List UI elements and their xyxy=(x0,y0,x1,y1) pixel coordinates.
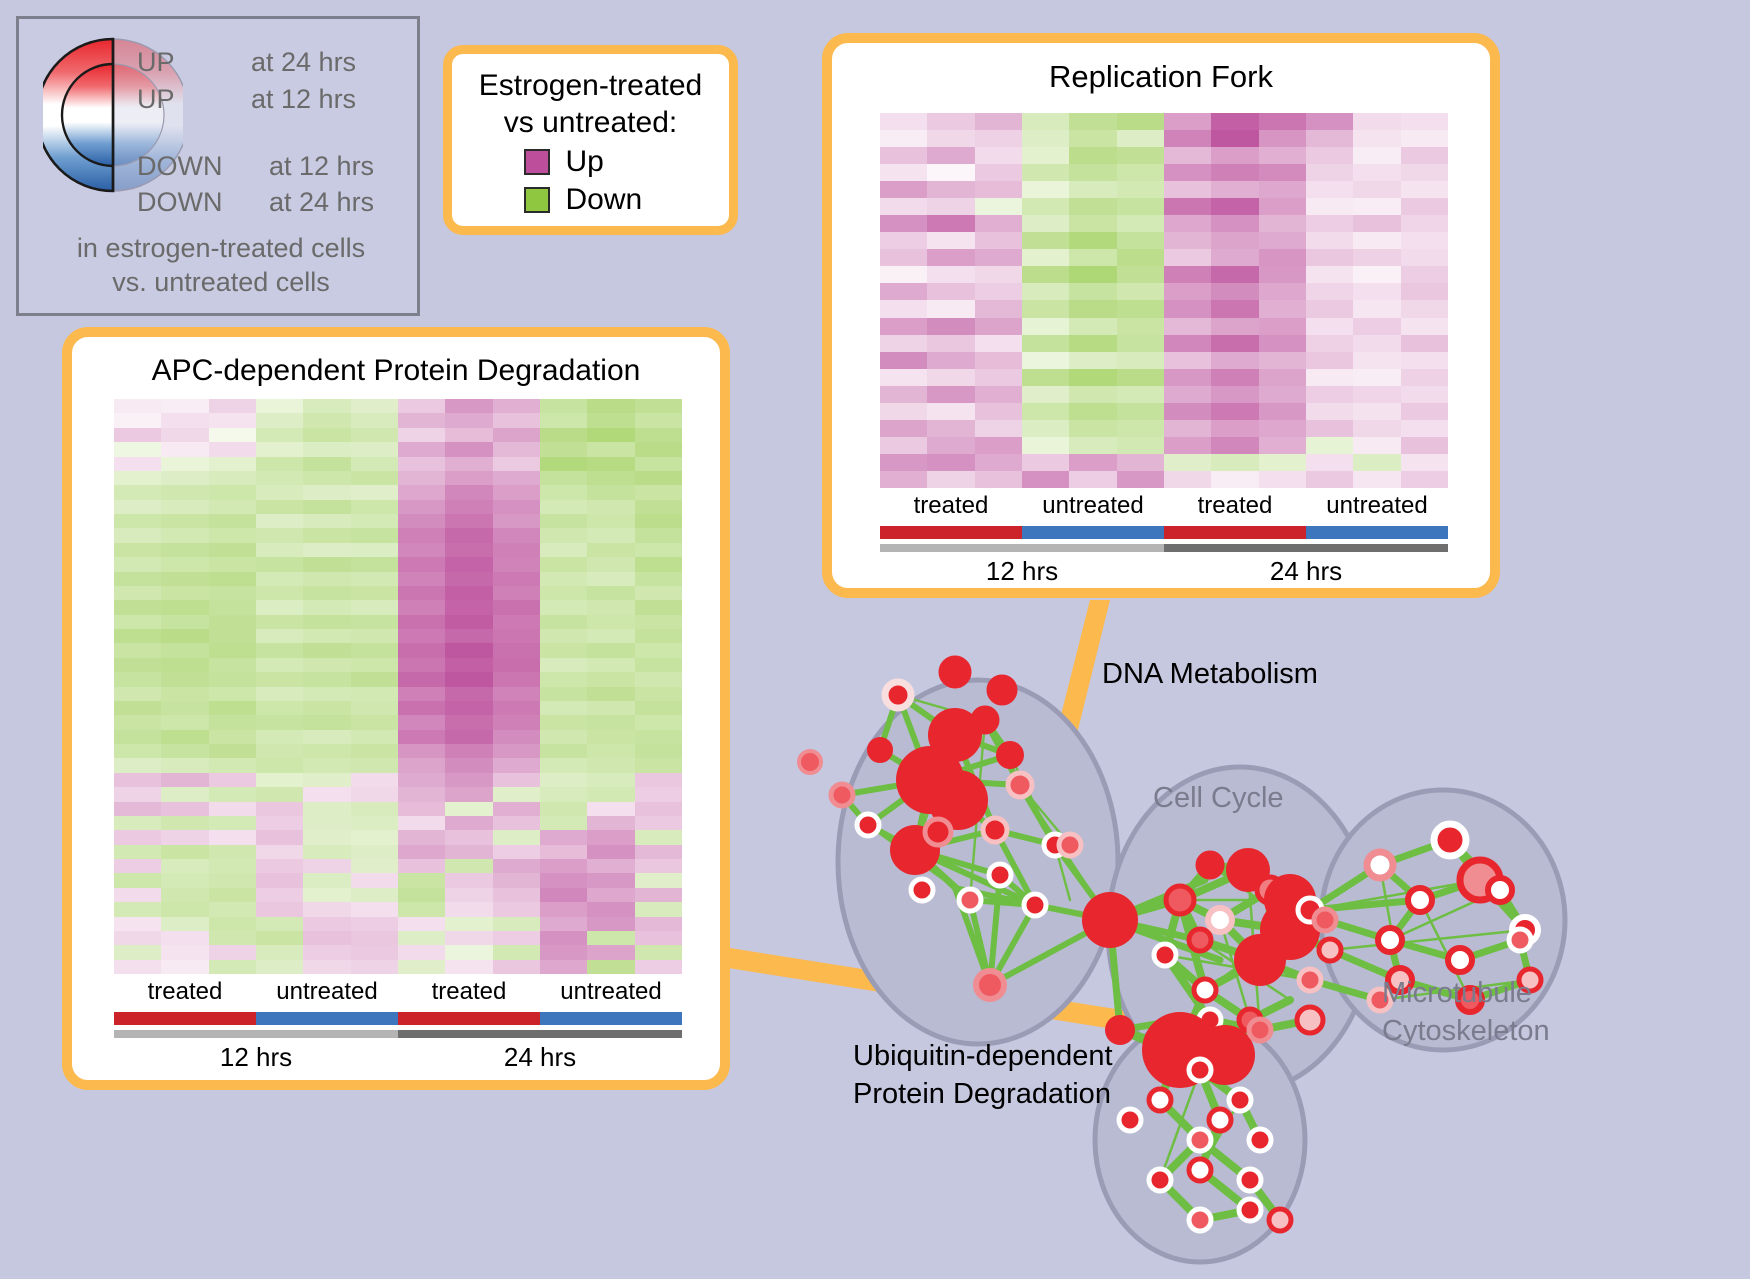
heatmap-cell xyxy=(303,773,350,787)
heatmap-cell xyxy=(587,457,634,471)
heatmap-cell xyxy=(398,543,445,557)
heatmap-cell xyxy=(114,787,161,801)
heatmap-cell xyxy=(635,902,682,916)
heatmap-cell xyxy=(445,485,492,499)
heatmap-cell xyxy=(587,816,634,830)
heatmap-cell xyxy=(1022,181,1069,198)
heatmap-cell xyxy=(303,615,350,629)
heatmap-cell xyxy=(975,386,1022,403)
heatmap-cell xyxy=(493,845,540,859)
heatmap-cell xyxy=(927,113,974,130)
heatmap-cell xyxy=(927,300,974,317)
heatmap-cell xyxy=(114,600,161,614)
heatmap-cell xyxy=(540,643,587,657)
heatmap-cell xyxy=(398,816,445,830)
heatmap-cell xyxy=(209,413,256,427)
heatmap-cell xyxy=(1211,249,1258,266)
heatmap-cell xyxy=(1117,420,1164,437)
heatmap-cell xyxy=(927,335,974,352)
heatmap-cell xyxy=(635,428,682,442)
heatmap-cell xyxy=(351,787,398,801)
heatmap-cell xyxy=(587,945,634,959)
heatmap-cell xyxy=(635,615,682,629)
heatmap-cell xyxy=(1353,454,1400,471)
heatmap-cell xyxy=(256,543,303,557)
group-label: treated xyxy=(1164,492,1306,520)
heatmap-cell xyxy=(540,557,587,571)
heatmap-cell xyxy=(587,500,634,514)
heatmap-cell xyxy=(351,888,398,902)
heatmap-cell xyxy=(975,300,1022,317)
heatmap-cell xyxy=(256,701,303,715)
heatmap-cell xyxy=(351,457,398,471)
heatmap-cell xyxy=(493,802,540,816)
heatmap-cell xyxy=(540,773,587,787)
heatmap-cell xyxy=(975,215,1022,232)
heatmap-cell xyxy=(161,500,208,514)
heatmap-cell xyxy=(445,787,492,801)
heatmap-cell xyxy=(1117,130,1164,147)
heatmap-cell xyxy=(303,543,350,557)
heatmap-cell xyxy=(445,629,492,643)
heatmap-cell xyxy=(1211,454,1258,471)
heatmap-cell xyxy=(1306,437,1353,454)
heatmap-cell xyxy=(1211,164,1258,181)
heatmap-cell xyxy=(1353,369,1400,386)
heatmap-cell xyxy=(114,730,161,744)
heatmap-cell xyxy=(975,454,1022,471)
heatmap-cell xyxy=(351,471,398,485)
heatmap-cell xyxy=(1401,437,1448,454)
heatmap-cell xyxy=(209,744,256,758)
heatmap-cell xyxy=(114,572,161,586)
heatmap-cell xyxy=(303,917,350,931)
heatmap-cell xyxy=(635,816,682,830)
heatmap-cell xyxy=(114,960,161,974)
heatmap-cell xyxy=(493,687,540,701)
heatmap-cell xyxy=(398,471,445,485)
heatmap-cell xyxy=(1069,266,1116,283)
heatmap-cell xyxy=(493,672,540,686)
heatmap-cell xyxy=(493,413,540,427)
heatmap-cell xyxy=(398,557,445,571)
down-label: Down xyxy=(566,183,658,217)
heatmap-cell xyxy=(587,471,634,485)
heatmap-cell xyxy=(540,917,587,931)
heatmap-cell xyxy=(635,802,682,816)
heatmap-cell xyxy=(114,615,161,629)
heatmap-cell xyxy=(927,164,974,181)
heatmap-cell xyxy=(493,543,540,557)
heatmap-cell xyxy=(975,181,1022,198)
heatmap-cell xyxy=(540,859,587,873)
heatmap-cell xyxy=(880,369,927,386)
heatmap-cell xyxy=(1164,266,1211,283)
heatmap-cell xyxy=(880,266,927,283)
heatmap-cell xyxy=(1069,147,1116,164)
heatmap-cell xyxy=(493,888,540,902)
heatmap-cell xyxy=(303,586,350,600)
heatmap-cell xyxy=(114,931,161,945)
heatmap-cell xyxy=(1259,420,1306,437)
heatmap-cell xyxy=(927,130,974,147)
heatmap-cell xyxy=(209,471,256,485)
heatmap-cell xyxy=(1353,335,1400,352)
heatmap-cell xyxy=(635,500,682,514)
heatmap-cell xyxy=(114,485,161,499)
heatmap-cell xyxy=(398,802,445,816)
heatmap-cell xyxy=(927,386,974,403)
apc-title: APC-dependent Protein Degradation xyxy=(72,354,720,388)
heatmap-cell xyxy=(493,931,540,945)
time-colour-segment xyxy=(398,1030,682,1038)
heatmap-cell xyxy=(1353,266,1400,283)
heatmap-cell xyxy=(445,658,492,672)
heatmap-cell xyxy=(1164,318,1211,335)
heatmap-cell xyxy=(493,471,540,485)
heatmap-cell xyxy=(1069,403,1116,420)
heatmap-cell xyxy=(161,572,208,586)
heatmap-cell xyxy=(635,471,682,485)
heatmap-cell xyxy=(493,758,540,772)
heatmap-cell xyxy=(1069,454,1116,471)
cluster-label-cytoskeleton: Cytoskeleton xyxy=(1382,1015,1550,1048)
heatmap-cell xyxy=(587,787,634,801)
heatmap-cell xyxy=(351,643,398,657)
heatmap-cell xyxy=(880,471,927,488)
heatmap-cell xyxy=(1211,369,1258,386)
heatmap-cell xyxy=(445,399,492,413)
heatmap-cell xyxy=(927,181,974,198)
heatmap-cell xyxy=(927,352,974,369)
heatmap-cell xyxy=(351,873,398,887)
heatmap-cell xyxy=(445,730,492,744)
pathway-network-diagram[interactable]: DNA Metabolism Cell Cycle Microtubule Cy… xyxy=(780,600,1740,1279)
heatmap-cell xyxy=(1117,369,1164,386)
heatmap-cell xyxy=(880,232,927,249)
heatmap-cell xyxy=(256,586,303,600)
heatmap-cell xyxy=(1259,266,1306,283)
heatmap-cell xyxy=(256,399,303,413)
heatmap-cell xyxy=(1259,369,1306,386)
time-colour-segment xyxy=(880,544,1164,552)
heatmap-cell xyxy=(1117,266,1164,283)
heatmap-cell xyxy=(540,945,587,959)
heatmap-cell xyxy=(256,572,303,586)
heatmap-cell xyxy=(493,629,540,643)
heatmap-cell xyxy=(256,442,303,456)
heatmap-cell xyxy=(1353,130,1400,147)
heatmap-cell xyxy=(445,471,492,485)
heatmap-cell xyxy=(635,672,682,686)
heatmap-cell xyxy=(635,586,682,600)
heatmap-cell xyxy=(1164,300,1211,317)
heatmap-cell xyxy=(114,399,161,413)
heatmap-cell xyxy=(303,802,350,816)
heatmap-cell xyxy=(256,528,303,542)
heatmap-cell xyxy=(1353,181,1400,198)
heatmap-cell xyxy=(161,600,208,614)
heatmap-cell xyxy=(351,572,398,586)
heatmap-cell xyxy=(398,485,445,499)
heatmap-cell xyxy=(1259,164,1306,181)
heatmap-cell xyxy=(540,413,587,427)
heatmap-cell xyxy=(1164,369,1211,386)
heatmap-cell xyxy=(114,471,161,485)
heatmap-cell xyxy=(587,543,634,557)
heatmap-cell xyxy=(114,528,161,542)
panel-replication-fork[interactable]: Replication Fork treateduntreatedtreated… xyxy=(822,33,1500,598)
heatmap-cell xyxy=(398,715,445,729)
heatmap-cell xyxy=(1211,300,1258,317)
heatmap-cell xyxy=(635,600,682,614)
heatmap-cell xyxy=(256,802,303,816)
heatmap-cell xyxy=(114,672,161,686)
heatmap-cell xyxy=(540,629,587,643)
heatmap-cell xyxy=(1353,420,1400,437)
heatmap-cell xyxy=(1306,181,1353,198)
heatmap-cell xyxy=(975,198,1022,215)
heatmap-cell xyxy=(256,758,303,772)
heatmap-cell xyxy=(303,457,350,471)
heatmap-cell xyxy=(114,845,161,859)
heatmap-cell xyxy=(1022,147,1069,164)
heatmap-cell xyxy=(303,873,350,887)
heatmap-cell xyxy=(209,572,256,586)
heatmap-cell xyxy=(493,528,540,542)
heatmap-cell xyxy=(1164,113,1211,130)
wheel-footer-line1: in estrogen-treated cells xyxy=(19,231,423,265)
heatmap-cell xyxy=(1306,386,1353,403)
heatmap-cell xyxy=(1306,232,1353,249)
heatmap-cell xyxy=(256,730,303,744)
heatmap-cell xyxy=(1211,318,1258,335)
heatmap-cell xyxy=(1069,283,1116,300)
heatmap-cell xyxy=(1211,232,1258,249)
heatmap-cell xyxy=(635,960,682,974)
apc-heatmap[interactable] xyxy=(114,399,682,974)
heatmap-cell xyxy=(209,528,256,542)
heatmap-cell xyxy=(1401,420,1448,437)
heatmap-cell xyxy=(161,715,208,729)
heatmap-cell xyxy=(303,888,350,902)
replication-fork-time-labels: 12 hrs24 hrs xyxy=(880,556,1448,587)
estrogen-title-line2: vs untreated: xyxy=(452,104,729,141)
group-colour-segment xyxy=(398,1012,540,1025)
heatmap-cell xyxy=(493,500,540,514)
heatmap-cell xyxy=(445,687,492,701)
heatmap-cell xyxy=(587,528,634,542)
heatmap-cell xyxy=(256,615,303,629)
wheel-label-down-24: DOWN xyxy=(137,187,222,218)
heatmap-cell xyxy=(1117,437,1164,454)
heatmap-cell xyxy=(1353,300,1400,317)
heatmap-cell xyxy=(1401,386,1448,403)
heatmap-cell xyxy=(540,457,587,471)
heatmap-cell xyxy=(975,232,1022,249)
heatmap-cell xyxy=(114,902,161,916)
group-colour-segment xyxy=(880,526,1022,539)
heatmap-cell xyxy=(1306,352,1353,369)
heatmap-cell xyxy=(114,859,161,873)
heatmap-cell xyxy=(303,902,350,916)
heatmap-cell xyxy=(1306,454,1353,471)
heatmap-cell xyxy=(161,615,208,629)
heatmap-cell xyxy=(256,500,303,514)
heatmap-cell xyxy=(161,859,208,873)
heatmap-cell xyxy=(1211,215,1258,232)
heatmap-cell xyxy=(161,873,208,887)
heatmap-cell xyxy=(351,730,398,744)
heatmap-cell xyxy=(1022,352,1069,369)
heatmap-cell xyxy=(256,945,303,959)
heatmap-cell xyxy=(398,643,445,657)
heatmap-cell xyxy=(927,403,974,420)
heatmap-cell xyxy=(114,500,161,514)
heatmap-cell xyxy=(114,543,161,557)
heatmap-cell xyxy=(303,500,350,514)
heatmap-cell xyxy=(1353,403,1400,420)
heatmap-cell xyxy=(927,437,974,454)
heatmap-cell xyxy=(398,744,445,758)
heatmap-cell xyxy=(493,773,540,787)
heatmap-cell xyxy=(351,715,398,729)
heatmap-cell xyxy=(1211,437,1258,454)
heatmap-cell xyxy=(351,500,398,514)
heatmap-cell xyxy=(635,787,682,801)
colour-wheel-legend: UP at 24 hrs UP at 12 hrs DOWN at 12 hrs… xyxy=(16,16,420,316)
heatmap-cell xyxy=(1259,335,1306,352)
time-label: 24 hrs xyxy=(1164,556,1448,587)
replication-fork-group-labels: treateduntreatedtreateduntreated xyxy=(880,492,1448,520)
heatmap-cell xyxy=(1022,386,1069,403)
heatmap-cell xyxy=(540,687,587,701)
heatmap-cell xyxy=(161,744,208,758)
heatmap-cell xyxy=(303,945,350,959)
heatmap-cell xyxy=(587,715,634,729)
heatmap-cell xyxy=(1211,420,1258,437)
heatmap-cell xyxy=(398,859,445,873)
heatmap-cell xyxy=(1353,164,1400,181)
heatmap-cell xyxy=(635,399,682,413)
heatmap-cell xyxy=(1306,266,1353,283)
heatmap-cell xyxy=(398,687,445,701)
heatmap-cell xyxy=(635,701,682,715)
heatmap-cell xyxy=(493,514,540,528)
heatmap-cell xyxy=(1259,198,1306,215)
heatmap-cell xyxy=(209,773,256,787)
heatmap-cell xyxy=(209,873,256,887)
heatmap-cell xyxy=(114,457,161,471)
wheel-time-down-12: at 12 hrs xyxy=(269,151,374,182)
replication-fork-heatmap[interactable] xyxy=(880,113,1448,488)
heatmap-cell xyxy=(256,744,303,758)
panel-apc-dependent-protein-degradation[interactable]: APC-dependent Protein Degradation treate… xyxy=(62,327,730,1090)
heatmap-cell xyxy=(398,931,445,945)
heatmap-cell xyxy=(351,672,398,686)
heatmap-cell xyxy=(635,485,682,499)
heatmap-cell xyxy=(635,557,682,571)
heatmap-cell xyxy=(303,485,350,499)
heatmap-cell xyxy=(1117,147,1164,164)
heatmap-cell xyxy=(1117,164,1164,181)
heatmap-cell xyxy=(540,615,587,629)
heatmap-cell xyxy=(445,615,492,629)
heatmap-cell xyxy=(209,816,256,830)
heatmap-cell xyxy=(1022,369,1069,386)
heatmap-cell xyxy=(540,572,587,586)
heatmap-cell xyxy=(114,744,161,758)
heatmap-cell xyxy=(493,572,540,586)
heatmap-cell xyxy=(927,454,974,471)
heatmap-cell xyxy=(161,701,208,715)
heatmap-cell xyxy=(209,658,256,672)
heatmap-cell xyxy=(635,413,682,427)
heatmap-cell xyxy=(1069,215,1116,232)
heatmap-cell xyxy=(303,514,350,528)
heatmap-cell xyxy=(445,457,492,471)
heatmap-cell xyxy=(493,787,540,801)
heatmap-cell xyxy=(445,586,492,600)
legend-key-up: Up xyxy=(452,145,729,179)
cluster-label-cell-cycle: Cell Cycle xyxy=(1153,782,1284,815)
heatmap-cell xyxy=(1401,198,1448,215)
heatmap-cell xyxy=(303,557,350,571)
heatmap-cell xyxy=(880,318,927,335)
heatmap-cell xyxy=(209,888,256,902)
heatmap-cell xyxy=(398,830,445,844)
heatmap-cell xyxy=(1211,283,1258,300)
heatmap-cell xyxy=(975,318,1022,335)
heatmap-cell xyxy=(1259,318,1306,335)
heatmap-cell xyxy=(1164,249,1211,266)
heatmap-cell xyxy=(493,816,540,830)
heatmap-cell xyxy=(540,816,587,830)
heatmap-cell xyxy=(1164,198,1211,215)
heatmap-cell xyxy=(114,413,161,427)
heatmap-cell xyxy=(303,730,350,744)
heatmap-cell xyxy=(540,428,587,442)
heatmap-cell xyxy=(161,413,208,427)
heatmap-cell xyxy=(540,471,587,485)
heatmap-cell xyxy=(445,715,492,729)
heatmap-cell xyxy=(351,485,398,499)
heatmap-cell xyxy=(1259,386,1306,403)
replication-fork-group-colour-bar xyxy=(880,526,1448,539)
heatmap-cell xyxy=(880,335,927,352)
heatmap-cell xyxy=(1069,249,1116,266)
heatmap-cell xyxy=(351,399,398,413)
heatmap-cell xyxy=(540,902,587,916)
heatmap-cell xyxy=(540,931,587,945)
heatmap-cell xyxy=(445,902,492,916)
replication-fork-title: Replication Fork xyxy=(832,59,1490,95)
heatmap-cell xyxy=(445,960,492,974)
heatmap-cell xyxy=(1306,147,1353,164)
heatmap-cell xyxy=(1117,403,1164,420)
heatmap-cell xyxy=(587,888,634,902)
heatmap-cell xyxy=(1401,454,1448,471)
apc-group-labels: treateduntreatedtreateduntreated xyxy=(114,978,682,1006)
heatmap-cell xyxy=(1164,147,1211,164)
heatmap-cell xyxy=(880,130,927,147)
heatmap-cell xyxy=(493,615,540,629)
heatmap-cell xyxy=(975,352,1022,369)
heatmap-cell xyxy=(1069,437,1116,454)
heatmap-cell xyxy=(635,917,682,931)
heatmap-cell xyxy=(1164,386,1211,403)
heatmap-cell xyxy=(975,266,1022,283)
